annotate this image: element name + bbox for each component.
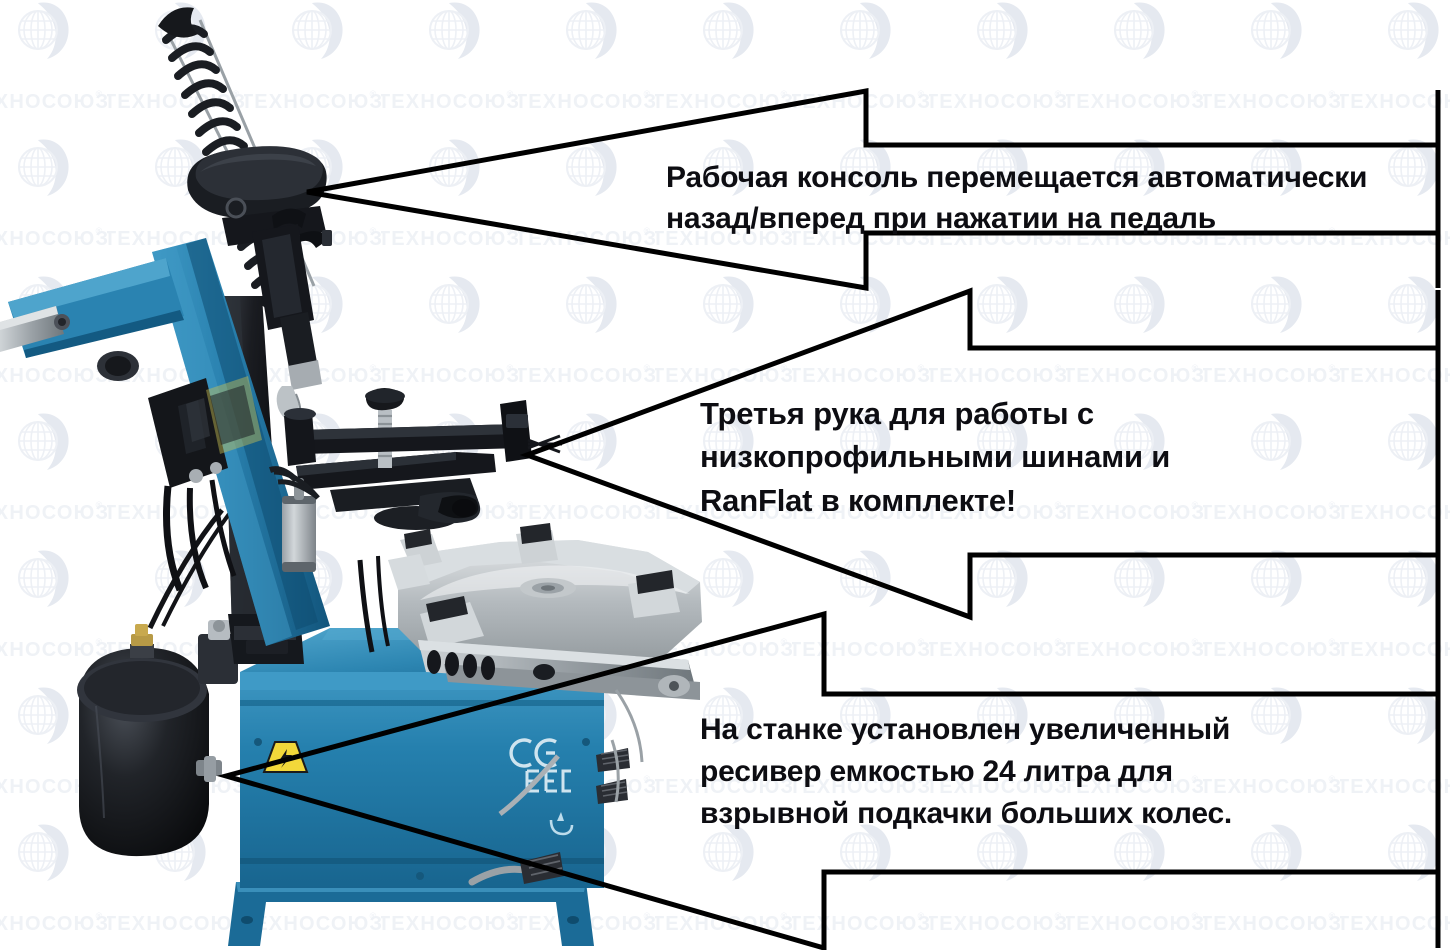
- callout-receiver-text: На станке установлен увеличенный ресивер…: [700, 709, 1360, 835]
- annotated-product-image: ТЕХНОСОЮЗ ®: [0, 0, 1450, 950]
- callout-console-text: Рабочая консоль перемещается автоматичес…: [666, 157, 1438, 240]
- callout-third-arm-text: Третья рука для работы с низкопрофильным…: [700, 392, 1300, 522]
- callout-text-layer: Рабочая консоль перемещается автоматичес…: [0, 0, 1450, 950]
